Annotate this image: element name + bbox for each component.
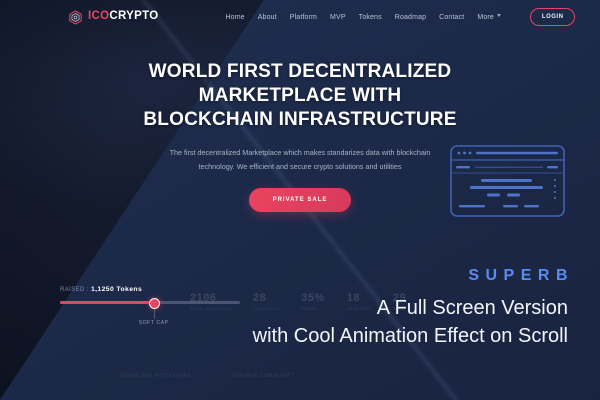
promo-kicker: SUPERB (253, 268, 574, 284)
promo-text-block: SUPERB A Full Screen Version with Cool A… (253, 268, 568, 351)
site-logo[interactable]: ICOCRYPTO (68, 10, 158, 25)
page-title: WORLD FIRST DECENTRALIZED MARKETPLACE WI… (135, 60, 465, 132)
soft-cap-label: SOFT CAP (139, 320, 169, 326)
logo-text: ICOCRYPTO (88, 11, 158, 23)
raised-label-text: RAISED : (60, 287, 89, 293)
nav-item-roadmap[interactable]: Roadmap (395, 14, 426, 21)
promo-line-2: with Cool Animation Effect on Scroll (253, 322, 568, 350)
screenshot-root: 2106 TOTAL INVESTORS 28 COUNTRIES 35% BO… (0, 0, 600, 400)
hero-subtitle: The first decentralized Marketplace whic… (166, 146, 434, 174)
login-button[interactable]: LOGIN (530, 8, 576, 26)
nav-item-tokens[interactable]: Tokens (359, 14, 382, 21)
raised-amount: 1,1250 Tokens (91, 286, 142, 293)
raise-progress-fill (60, 301, 154, 304)
raise-progress-slider[interactable]: SOFT CAP (60, 301, 240, 304)
nav-item-more[interactable]: More (477, 14, 501, 21)
browser-wireframe-icon (450, 145, 565, 217)
nav-item-platform[interactable]: Platform (290, 14, 317, 21)
token-raise-widget: RAISED : 1,1250 Tokens SOFT CAP (60, 286, 240, 304)
logo-text-primary: ICO (88, 10, 109, 22)
nav-item-home[interactable]: Home (225, 14, 244, 21)
raised-label: RAISED : 1,1250 Tokens (60, 286, 240, 293)
private-sale-button[interactable]: PRIVATE SALE (249, 188, 352, 212)
logo-text-secondary: CRYPTO (109, 10, 158, 22)
site-header: ICOCRYPTO Home About Platform MVP Tokens… (0, 0, 600, 34)
hexagon-crypto-icon (68, 10, 83, 25)
nav-item-mvp[interactable]: MVP (330, 14, 346, 21)
browser-window-illustration (450, 145, 565, 217)
nav-item-contact[interactable]: Contact (439, 14, 464, 21)
main-navigation: Home About Platform MVP Tokens Roadmap C… (225, 8, 575, 26)
promo-line-1: A Full Screen Version (253, 294, 568, 322)
nav-item-about[interactable]: About (258, 14, 277, 21)
